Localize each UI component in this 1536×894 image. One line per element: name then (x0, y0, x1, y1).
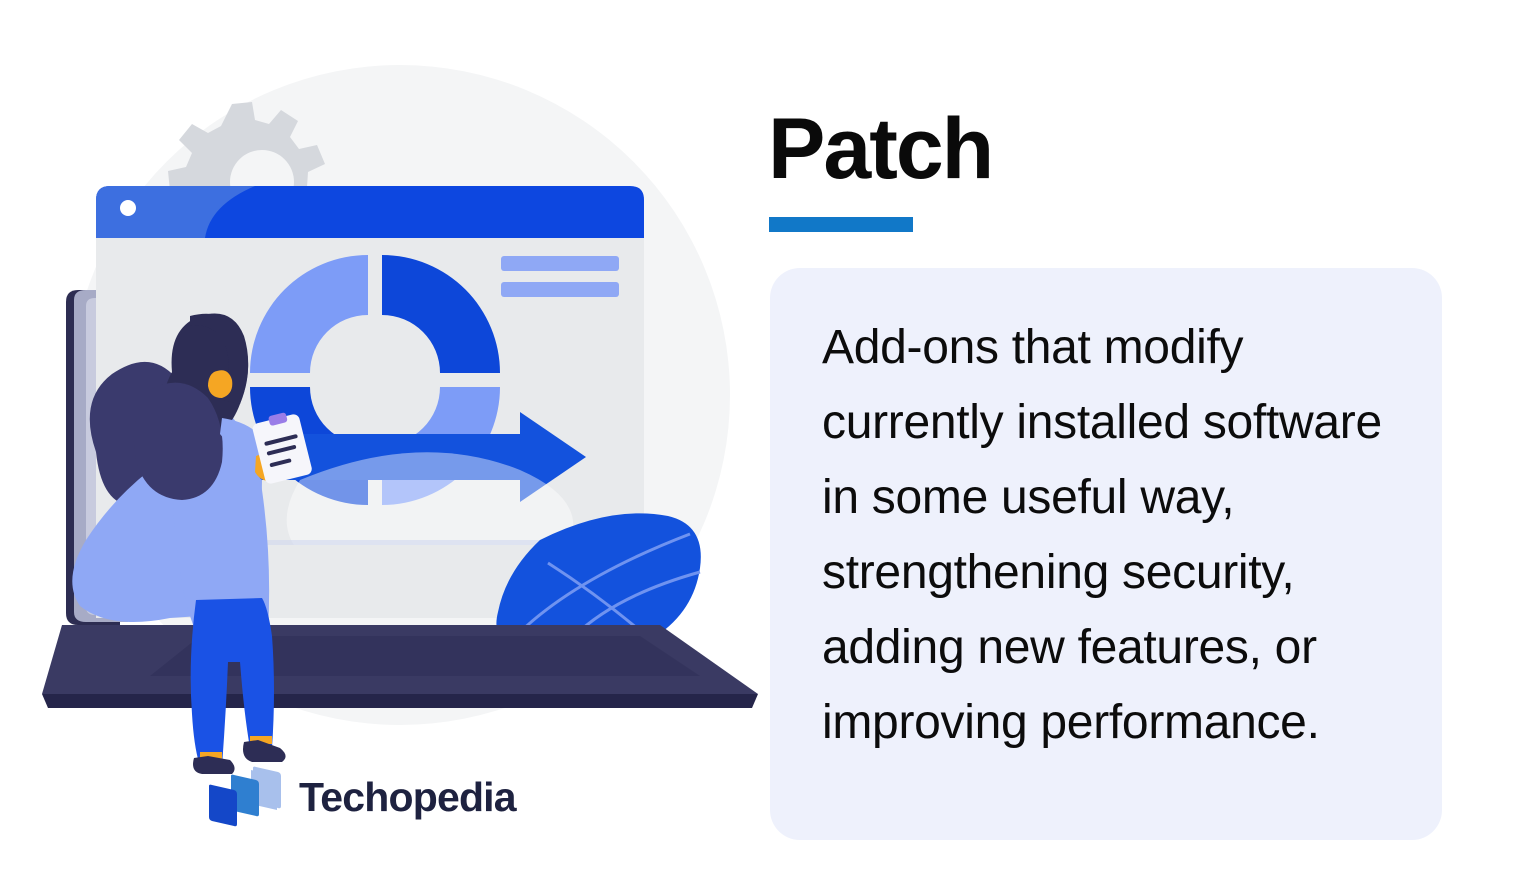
title-underline-accent (769, 217, 913, 232)
definition-text: Add-ons that modify currently installed … (822, 310, 1422, 760)
techopedia-wordmark: Techopedia (299, 777, 516, 818)
window-dot-icon (120, 200, 136, 216)
page-title: Patch (768, 104, 992, 194)
illustration-panel: Techopedia (0, 0, 760, 894)
page-root: Techopedia Patch Add-ons that modify cur… (0, 0, 1536, 894)
techopedia-mark-icon (205, 766, 283, 828)
content-panel: Patch Add-ons that modify currently inst… (760, 0, 1536, 894)
brand-logo[interactable]: Techopedia (205, 766, 516, 828)
definition-card: Add-ons that modify currently installed … (770, 268, 1442, 840)
software-update-illustration (0, 0, 760, 894)
laptop-base (42, 625, 758, 708)
